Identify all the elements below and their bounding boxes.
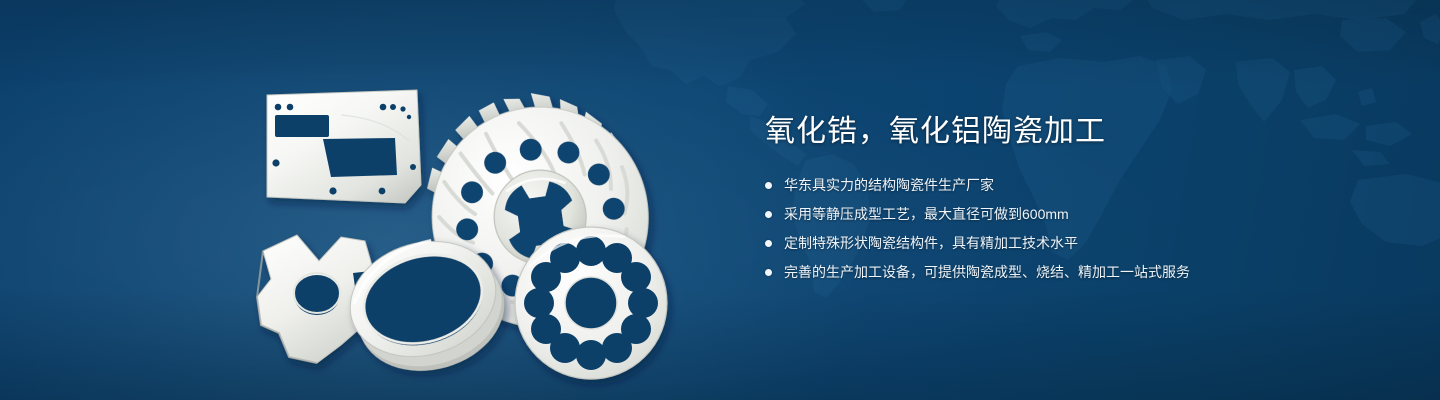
- feature-text: 华东具实力的结构陶瓷件生产厂家: [784, 174, 994, 196]
- product-photo-group: [245, 45, 705, 375]
- feature-text: 完善的生产加工设备，可提供陶瓷成型、烧结、精加工一站式服务: [784, 261, 1190, 283]
- feature-text: 采用等静压成型工艺，最大直径可做到600mm: [784, 203, 1069, 225]
- banner-copy: 氧化锆，氧化铝陶瓷加工 华东具实力的结构陶瓷件生产厂家 采用等静压成型工艺，最大…: [765, 112, 1325, 283]
- list-item: 采用等静压成型工艺，最大直径可做到600mm: [765, 203, 1325, 225]
- list-item: 完善的生产加工设备，可提供陶瓷成型、烧结、精加工一站式服务: [765, 261, 1325, 283]
- page-title: 氧化锆，氧化铝陶瓷加工: [765, 112, 1325, 152]
- ceramic-perforated-disc-part: [515, 227, 667, 379]
- ceramic-plate-part: [267, 90, 421, 203]
- feature-list: 华东具实力的结构陶瓷件生产厂家 采用等静压成型工艺，最大直径可做到600mm 定…: [765, 174, 1325, 283]
- bullet-dot-icon: [765, 182, 772, 189]
- bullet-dot-icon: [765, 269, 772, 276]
- bullet-dot-icon: [765, 211, 772, 218]
- promo-banner: 氧化锆，氧化铝陶瓷加工 华东具实力的结构陶瓷件生产厂家 采用等静压成型工艺，最大…: [0, 0, 1440, 400]
- list-item: 华东具实力的结构陶瓷件生产厂家: [765, 174, 1325, 196]
- feature-text: 定制特殊形状陶瓷结构件，具有精加工技术水平: [784, 232, 1078, 254]
- bullet-dot-icon: [765, 240, 772, 247]
- list-item: 定制特殊形状陶瓷结构件，具有精加工技术水平: [765, 232, 1325, 254]
